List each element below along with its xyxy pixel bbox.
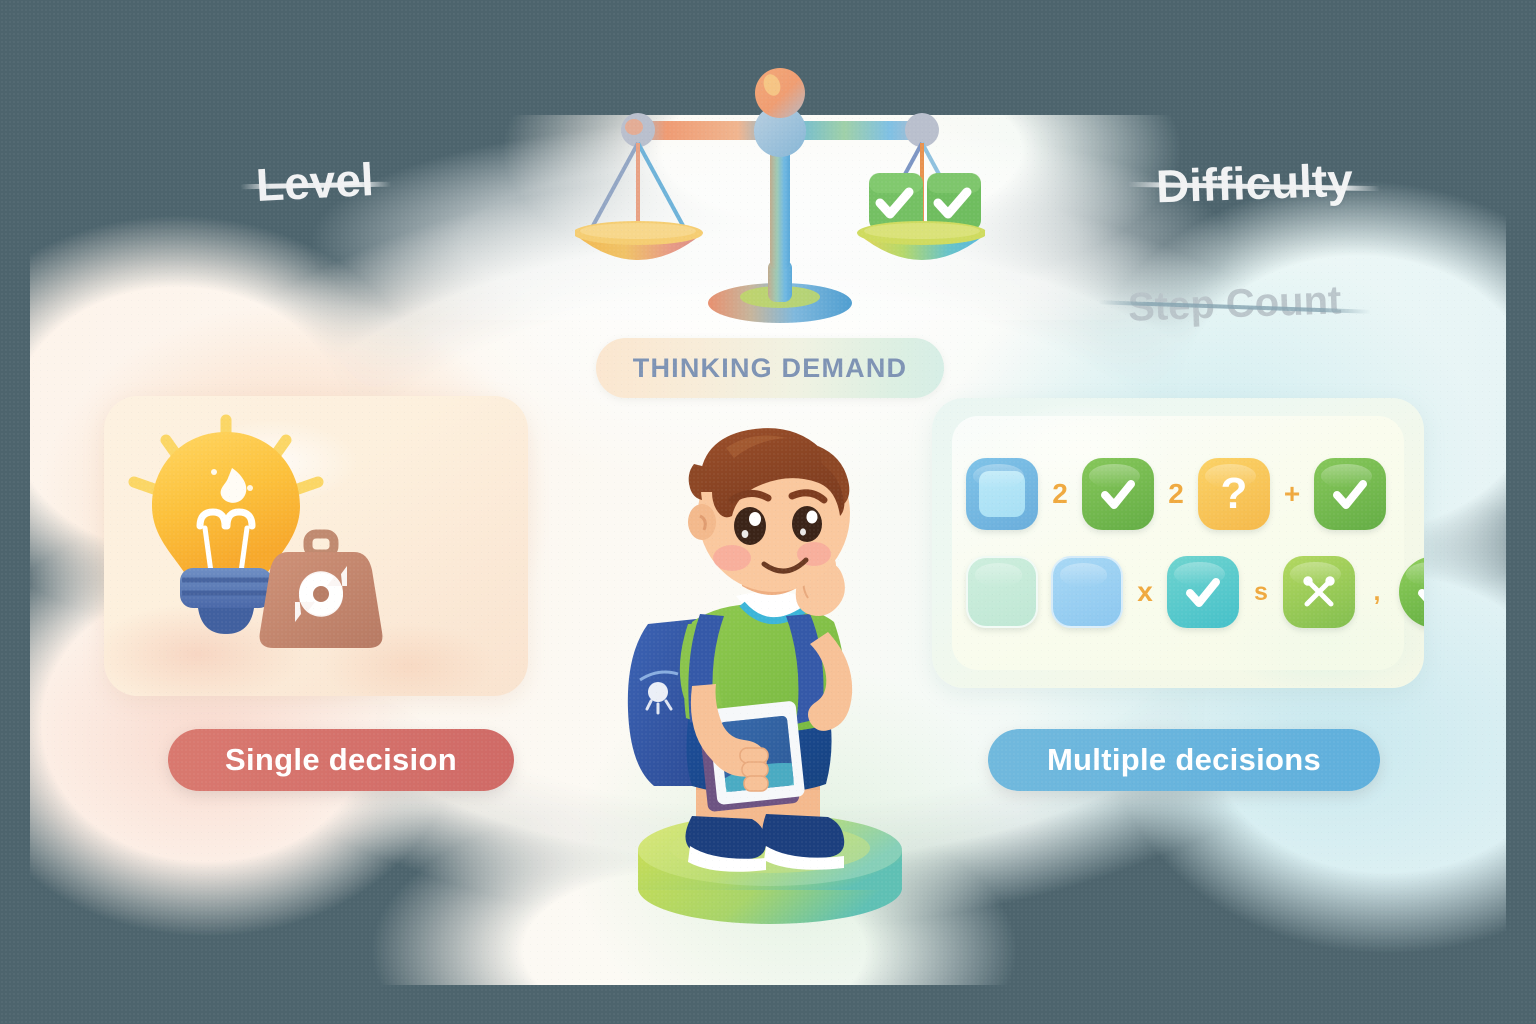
green-check-tile [1082,458,1154,530]
operator-plus: + [1283,478,1301,510]
tile-gloss [975,563,1023,586]
tile-gloss [1406,562,1424,586]
operator-2: 2 [1051,478,1069,510]
illustration-stage: Level Difficulty Step Count THINKING DEM… [0,0,1536,1024]
multiple-decisions-label: Multiple decisions [1047,742,1321,778]
sky-square-tile [1051,556,1123,628]
single-decision-label: Single decision [225,742,457,778]
tile-gloss [1290,562,1340,586]
icon-row: 2 2 ? + [966,456,1394,532]
operator-x: x [1136,576,1154,608]
tile-gloss [1321,464,1371,488]
tile-gloss [1174,562,1224,586]
single-decision-label-pill: Single decision [168,729,514,791]
yellow-question-tile: ? [1198,458,1270,530]
thinking-demand-badge: THINKING DEMAND [596,338,944,398]
decision-icon-grid: 2 2 ? + [966,456,1394,630]
tile-gloss [1089,464,1139,488]
operator-s: s [1252,578,1270,607]
multiple-decisions-label-pill: Multiple decisions [988,729,1380,791]
operator-comma: , [1368,578,1386,607]
tile-gloss [1060,563,1108,586]
single-decision-panel [104,396,528,696]
balance-scale-icon [575,55,985,335]
teal-check-tile [1167,556,1239,628]
thinking-schoolboy-illustration [596,418,944,938]
green-check-tile [1314,458,1386,530]
tile-gloss [973,464,1023,488]
operator-2: 2 [1167,478,1185,510]
multiple-decisions-panel: 2 2 ? + [932,398,1424,688]
lime-cross-tile [1283,556,1355,628]
tile-gloss [1205,464,1255,488]
mint-square-tile [966,556,1038,628]
thinking-demand-label: THINKING DEMAND [633,353,908,384]
blue-square-tile [966,458,1038,530]
icon-row: x s , [966,554,1394,630]
